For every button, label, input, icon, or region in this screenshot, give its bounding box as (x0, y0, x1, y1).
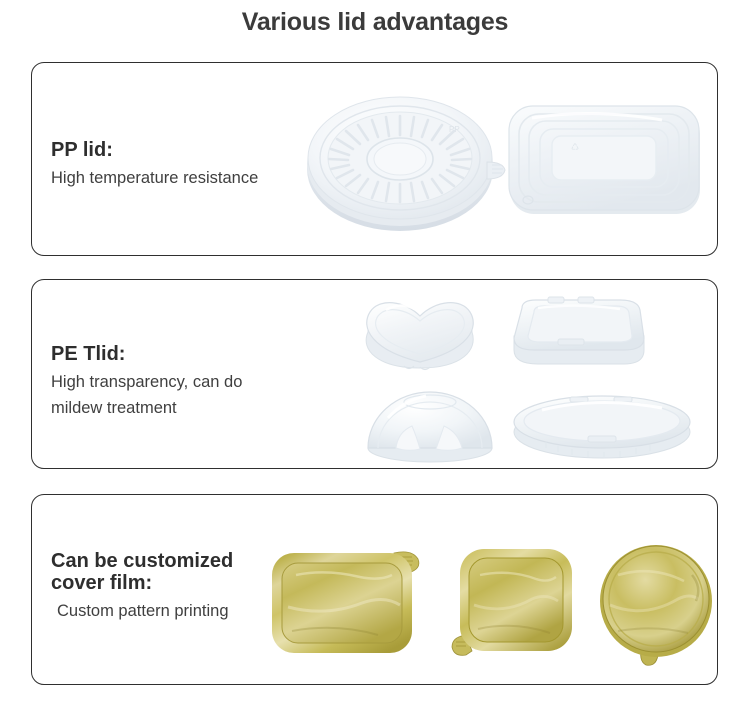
svg-text:♺: ♺ (571, 142, 579, 152)
pe-lid-subtitle: High transparency, can do mildew treatme… (51, 369, 242, 421)
heart-shaped-dome-lid-image (342, 288, 502, 383)
round-ribbed-pp-lid-image: PP (297, 76, 517, 251)
cover-film-heading: Can be customized cover film: (51, 550, 233, 594)
pe-lid-text-block: PE Tlid: High transparency, can do milde… (51, 343, 242, 421)
gold-foil-rectangular-cover-image (262, 545, 442, 670)
page-title: Various lid advantages (0, 8, 750, 37)
pp-lid-text-block: PP lid: High temperature resistance (51, 139, 258, 191)
gold-foil-round-cover-image (584, 541, 718, 676)
cover-film-subtitle: Custom pattern printing (51, 598, 233, 624)
pp-lid-heading: PP lid: (51, 139, 258, 161)
card-pe-lid: PE Tlid: High transparency, can do milde… (31, 279, 718, 469)
svg-text:PP: PP (449, 125, 460, 134)
gold-foil-square-cover-image (444, 543, 594, 673)
card-cover-film: Can be customized cover film: Custom pat… (31, 494, 718, 685)
rectangular-pp-lid-image: ♺ (492, 88, 717, 238)
cover-film-text-block: Can be customized cover film: Custom pat… (51, 550, 233, 624)
card-pp-lid: PP lid: High temperature resistance (31, 62, 718, 256)
pe-lid-heading: PE Tlid: (51, 343, 242, 365)
square-flat-lid-image (492, 292, 667, 379)
oval-flat-lid-image (502, 380, 702, 469)
round-dome-lid-image (352, 378, 512, 469)
pp-lid-subtitle: High temperature resistance (51, 165, 258, 191)
